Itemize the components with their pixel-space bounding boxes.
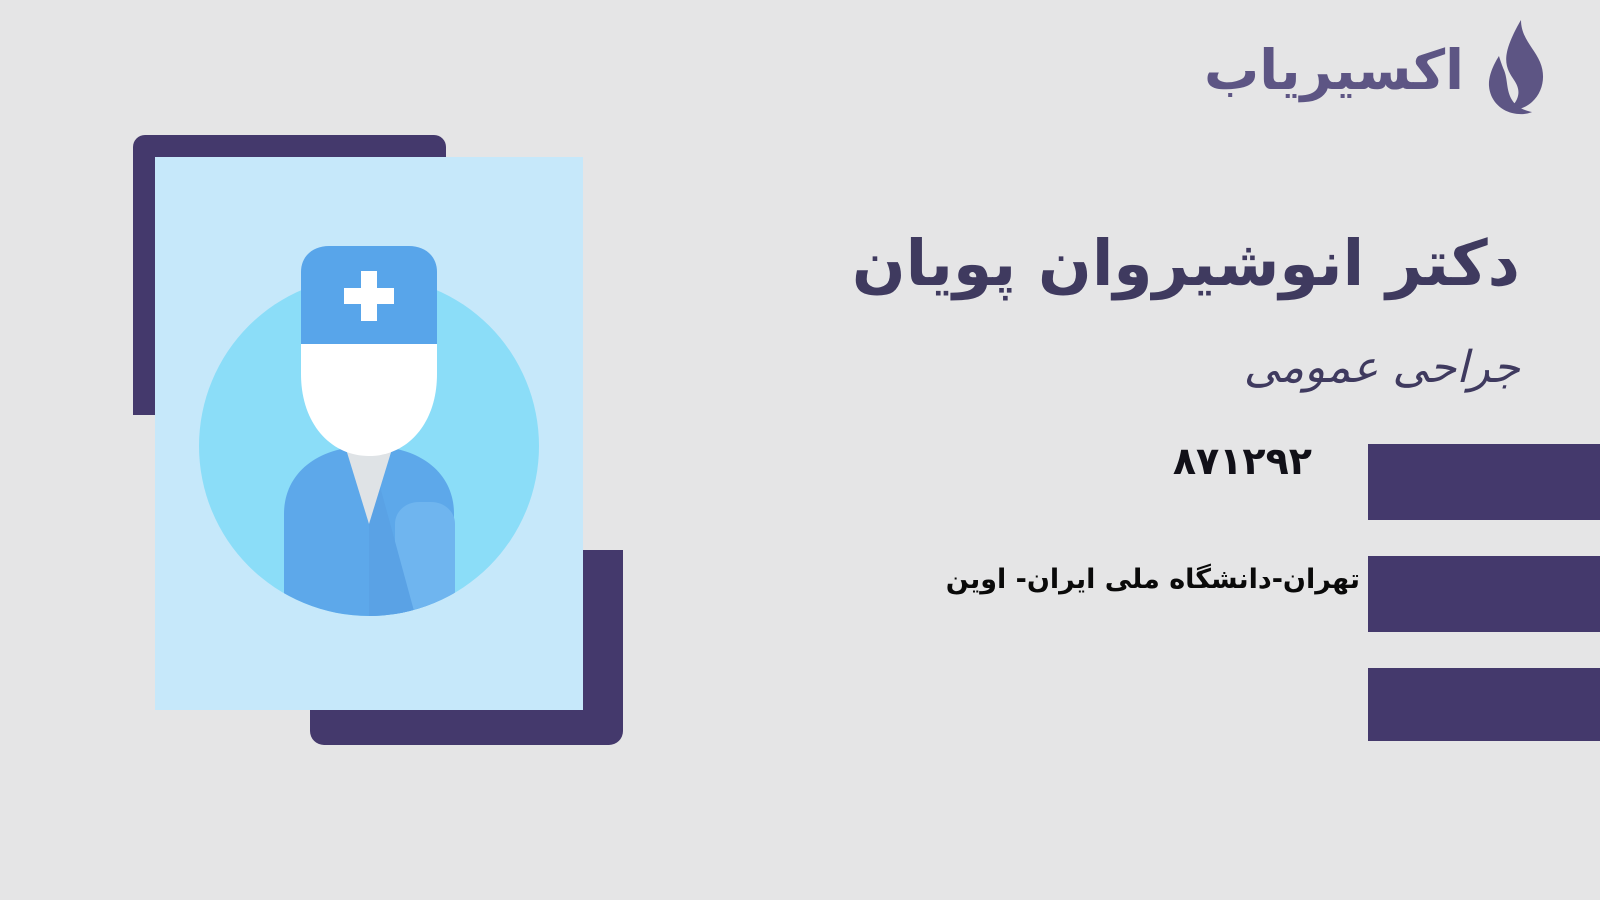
doctor-code: ۸۷۱۲۹۲ — [1173, 442, 1312, 480]
decorative-bar-2 — [1368, 556, 1600, 632]
illustration-card — [155, 157, 583, 710]
decorative-bar-3 — [1368, 668, 1600, 741]
decorative-bar-1 — [1368, 444, 1600, 520]
doctor-specialty: جراحی عمومی — [800, 342, 1520, 395]
doctor-illustration — [133, 135, 623, 745]
profile-card-canvas: اکسیریاب — [0, 0, 1600, 900]
doctor-name: دکتر انوشیروان پویان — [800, 228, 1520, 300]
doctor-address: تهران-دانشگاه ملی ایران- اوین — [946, 564, 1360, 596]
doctor-avatar-icon — [179, 224, 559, 644]
